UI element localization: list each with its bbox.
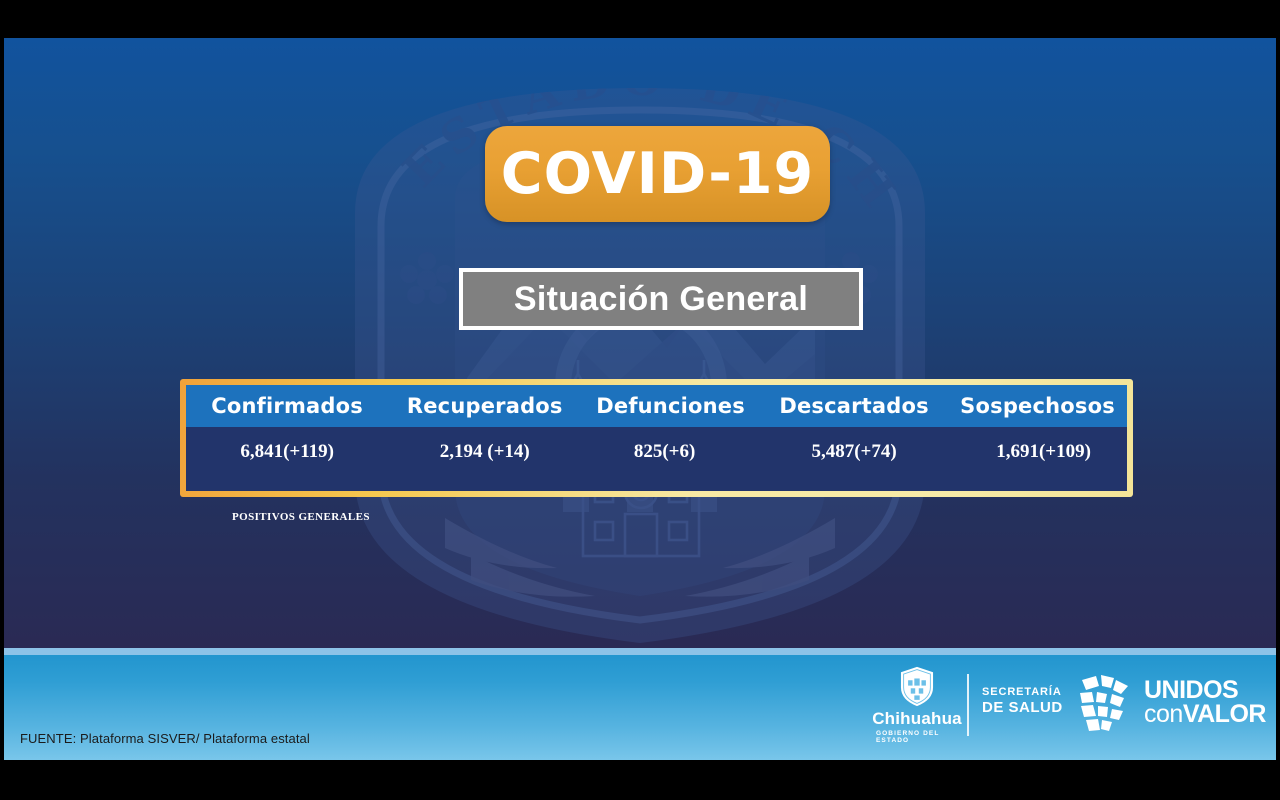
letterbox-right — [1276, 38, 1280, 760]
ucv-valor: VALOR — [1183, 700, 1266, 728]
salud-line2: DE SALUD — [982, 699, 1063, 716]
chihuahua-logo-name: Chihuahua — [872, 709, 962, 729]
chihuahua-government-logo: Chihuahua GOBIERNO DEL ESTADO — [876, 666, 958, 744]
value-confirmados: 6,841(+119) — [186, 441, 388, 463]
covid19-badge: COVID-19 — [485, 126, 830, 222]
secretaria-de-salud-logo: SECRETARÍA DE SALUD — [982, 686, 1063, 716]
column-header-sospechosos: Sospechosos — [948, 394, 1127, 418]
situacion-general-label: Situación General — [514, 280, 808, 319]
salud-line1: SECRETARÍA — [982, 686, 1063, 698]
source-text: FUENTE: Plataforma SISVER/ Plataforma es… — [20, 731, 310, 746]
value-recuperados: 2,194 (+14) — [388, 441, 581, 463]
unidos-con-valor-logo: UNIDOS conVALOR — [1076, 672, 1266, 734]
stats-table-value-row: 6,841(+119) 2,194 (+14) 825(+6) 5,487(+7… — [186, 427, 1127, 491]
covid19-badge-label: COVID-19 — [501, 141, 814, 207]
stats-table-frame: Confirmados Recuperados Defunciones Desc… — [180, 379, 1133, 497]
slide-screen: ESTADO DE CHIHUAHUA VALENTIA HOSPITALIDA… — [0, 0, 1280, 800]
situacion-general-box: Situación General — [459, 268, 863, 330]
chihuahua-logo-subtitle: GOBIERNO DEL ESTADO — [876, 730, 958, 744]
ucv-line2: conVALOR — [1144, 703, 1266, 727]
positivos-generales-caption: POSITIVOS GENERALES — [232, 511, 370, 523]
unidos-con-valor-text: UNIDOS conVALOR — [1144, 679, 1266, 727]
column-header-descartados: Descartados — [760, 394, 948, 418]
value-descartados: 5,487(+74) — [760, 441, 948, 463]
stats-table: Confirmados Recuperados Defunciones Desc… — [186, 385, 1127, 491]
slide-body: ESTADO DE CHIHUAHUA VALENTIA HOSPITALIDA… — [4, 38, 1276, 648]
letterbox-top — [0, 0, 1280, 38]
slide-footer: FUENTE: Plataforma SISVER/ Plataforma es… — [4, 648, 1276, 760]
value-defunciones: 825(+6) — [575, 441, 754, 463]
column-header-defunciones: Defunciones — [581, 394, 760, 418]
column-header-recuperados: Recuperados — [388, 394, 581, 418]
logo-divider — [967, 674, 969, 736]
stats-table-header-row: Confirmados Recuperados Defunciones Desc… — [186, 385, 1127, 427]
footer-top-stripe — [4, 648, 1276, 655]
letterbox-left — [0, 38, 4, 760]
ucv-con: con — [1144, 700, 1183, 728]
column-header-confirmados: Confirmados — [186, 394, 388, 418]
shield-icon — [897, 666, 937, 707]
chihuahua-map-icon — [1076, 672, 1136, 734]
letterbox-bottom — [0, 760, 1280, 800]
value-sospechosos: 1,691(+109) — [954, 441, 1127, 463]
